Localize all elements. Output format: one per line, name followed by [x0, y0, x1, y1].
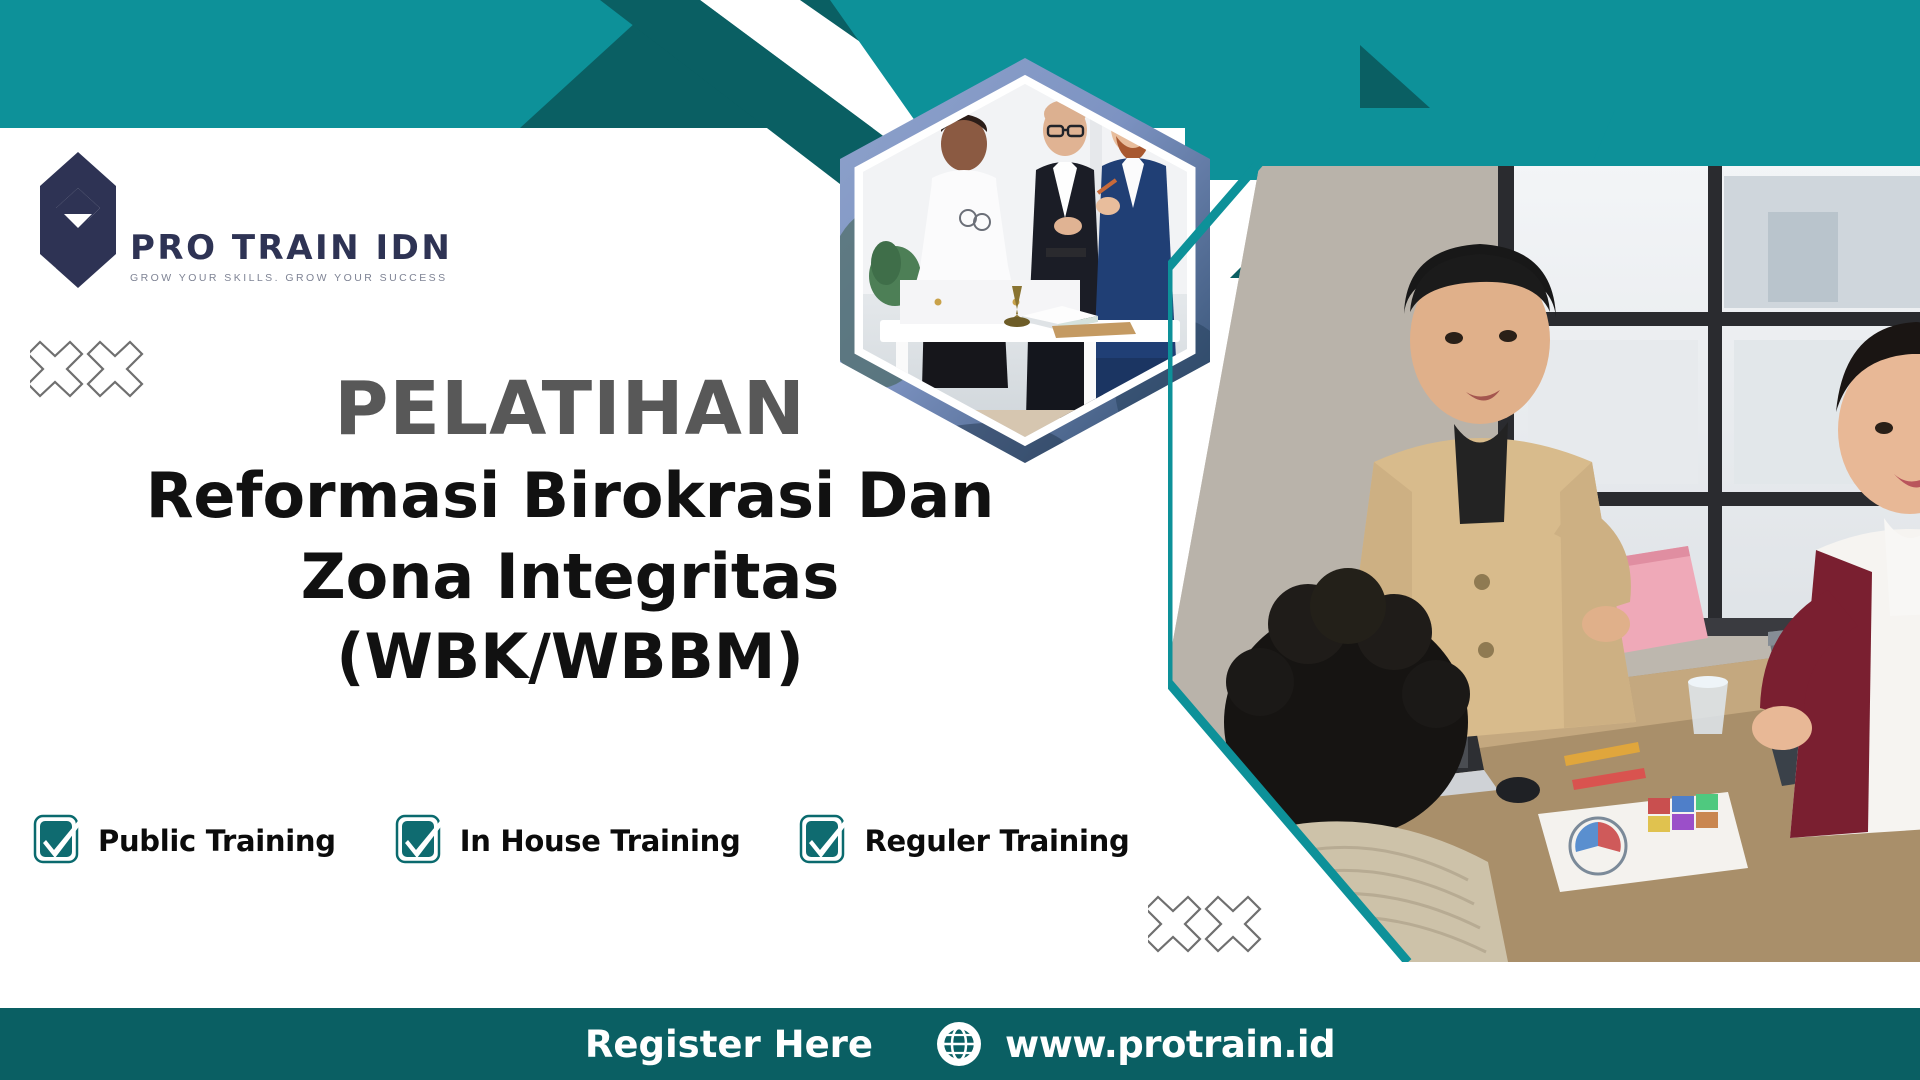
website-url[interactable]: www.protrain.id	[1005, 1023, 1335, 1066]
brand-logo[interactable]: PRO TRAIN IDN GROW YOUR SKILLS. GROW YOU…	[34, 150, 452, 290]
training-option-label: Reguler Training	[864, 824, 1129, 858]
poster-canvas: PRO TRAIN IDN GROW YOUR SKILLS. GROW YOU…	[0, 0, 1920, 1080]
training-option-label: Public Training	[98, 824, 336, 858]
register-here-label[interactable]: Register Here	[585, 1023, 873, 1066]
headline-line-2: Zona Integritas	[0, 537, 1140, 618]
brand-logo-text: PRO TRAIN IDN GROW YOUR SKILLS. GROW YOU…	[130, 231, 452, 290]
headline-line-3: (WBK/WBBM)	[0, 617, 1140, 698]
globe-icon	[935, 1020, 983, 1068]
brand-tagline: GROW YOUR SKILLS. GROW YOUR SUCCESS	[130, 272, 452, 284]
training-option-reguler[interactable]: Reguler Training	[798, 812, 1129, 870]
footer-content: Register Here www.protrain.id	[585, 1020, 1335, 1068]
decorative-x-marks-lower	[1148, 893, 1264, 955]
training-option-public[interactable]: Public Training	[32, 812, 336, 870]
footer-bar: Register Here www.protrain.id	[0, 1008, 1920, 1080]
checkbox-checked-icon[interactable]	[394, 812, 448, 870]
headline-line-1: Reformasi Birokrasi Dan	[0, 456, 1140, 537]
office-collaboration-photo	[1168, 162, 1920, 962]
training-option-in-house[interactable]: In House Training	[394, 812, 741, 870]
headline-block: PELATIHAN Reformasi Birokrasi Dan Zona I…	[0, 372, 1140, 698]
protrain-arrow-logo-icon	[34, 150, 122, 290]
brand-name: PRO TRAIN IDN	[130, 231, 452, 265]
checkbox-checked-icon[interactable]	[798, 812, 852, 870]
training-options-row: Public Training In House Training Regule…	[32, 812, 1129, 870]
training-option-label: In House Training	[460, 824, 741, 858]
headline-eyebrow: PELATIHAN	[0, 372, 1140, 446]
checkbox-checked-icon[interactable]	[32, 812, 86, 870]
